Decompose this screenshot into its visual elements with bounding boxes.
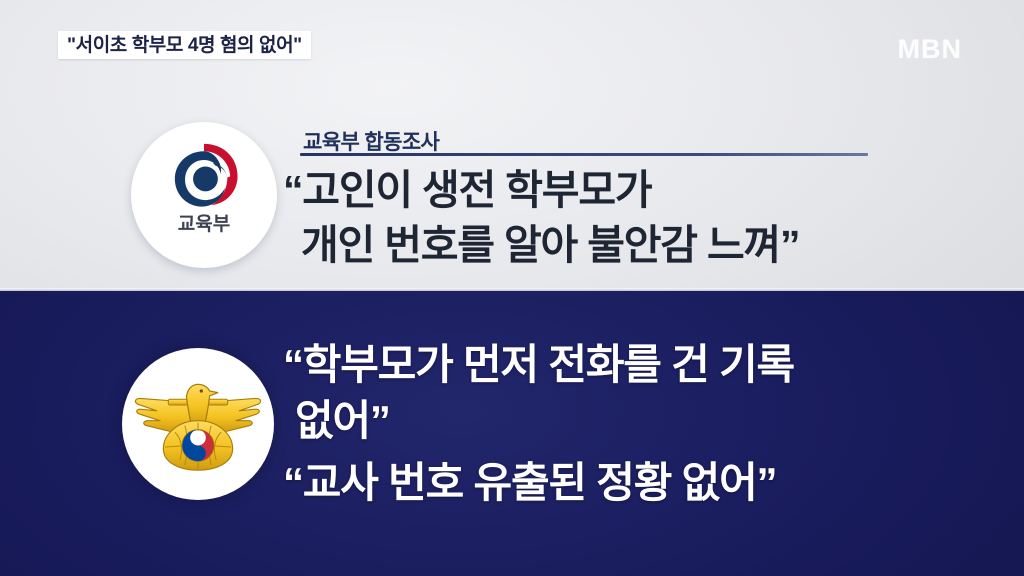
broadcast-news-graphic: "서이초 학부모 4명 혐의 없어" MBN 교육부 교육부 합동조사 “고인이… (0, 0, 1024, 576)
police-quote-2-line-1: “교사 번호 유출된 정황 없어” (283, 455, 1013, 511)
police-quote-1-line-2: 없어” (283, 393, 1013, 449)
label-underline-rule (300, 153, 868, 156)
education-quote-line-1: “고인이 생전 학부모가 (283, 163, 1003, 218)
police-quote-block-1: “학부모가 먼저 전화를 건 기록 없어” (283, 337, 1013, 449)
education-quote-block: “고인이 생전 학부모가 개인 번호를 알아 불안감 느껴” (283, 163, 1003, 273)
police-eagle-icon (132, 374, 264, 474)
headline-text: "서이초 학부모 4명 혐의 없어" (67, 36, 302, 55)
police-quote-block-2: “교사 번호 유출된 정황 없어” (283, 455, 1013, 511)
ministry-of-education-caption: 교육부 (178, 215, 230, 234)
mbn-network-logo: MBN (898, 34, 963, 65)
police-quote-1-line-1: “학부모가 먼저 전화를 건 기록 (283, 337, 1013, 393)
ministry-of-education-logo: 교육부 (131, 122, 277, 268)
government-taegeuk-icon (167, 141, 241, 211)
education-quote-line-2: 개인 번호를 알아 불안감 느껴” (283, 218, 1003, 273)
korean-national-police-emblem (122, 348, 274, 500)
headline-banner: "서이초 학부모 4명 혐의 없어" (58, 31, 311, 59)
education-investigation-label: 교육부 합동조사 (303, 126, 439, 156)
